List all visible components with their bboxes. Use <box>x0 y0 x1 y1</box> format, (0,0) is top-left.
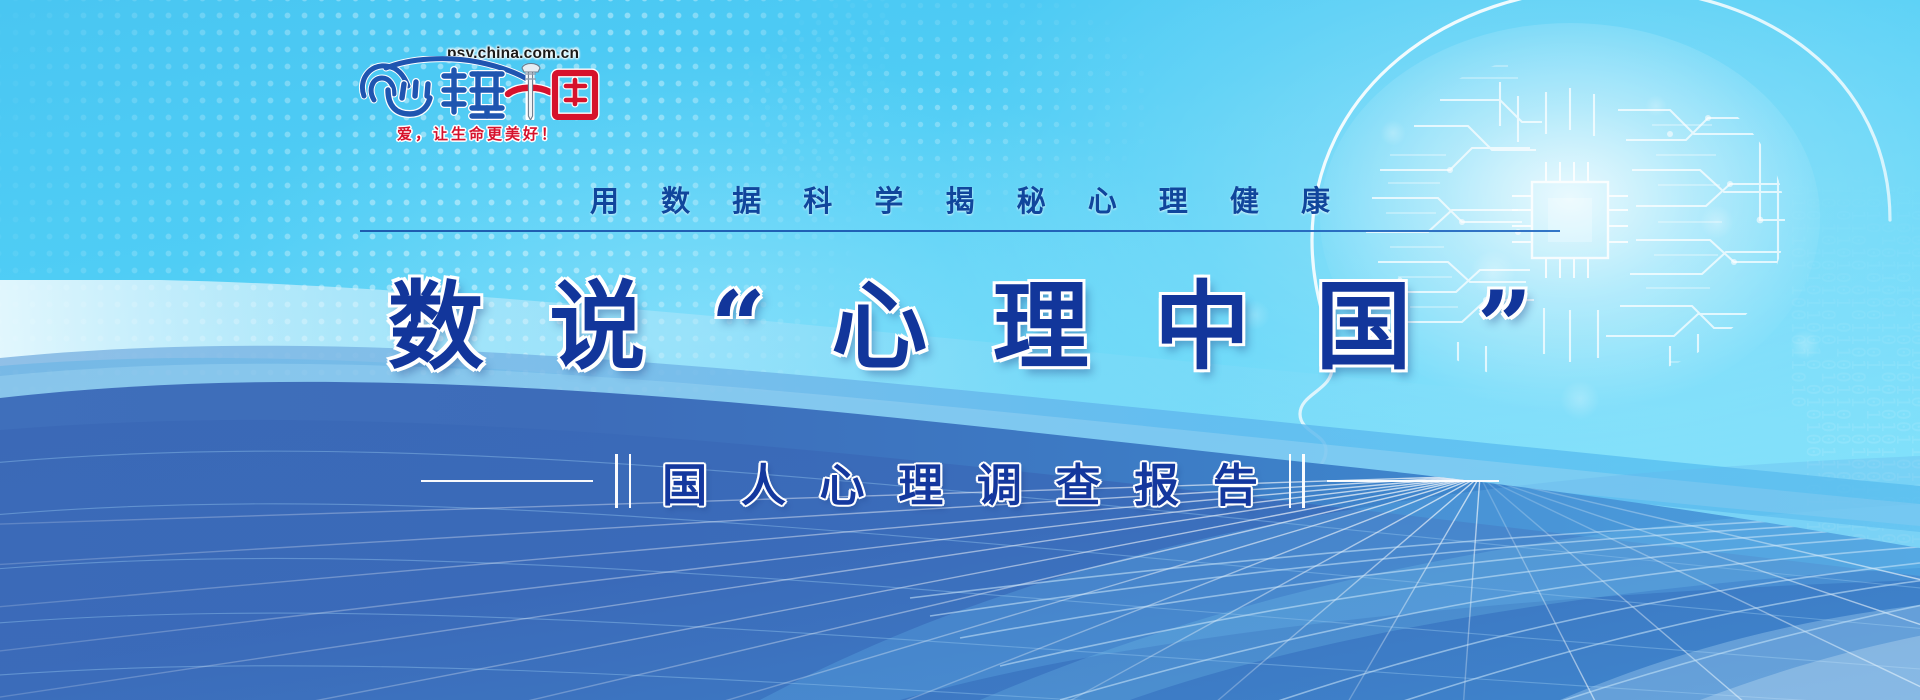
kicker-headline: 用 数 据 科 学 揭 秘 心 理 健 康 <box>0 178 1920 220</box>
halftone-dot-pattern-secondary <box>640 0 1160 280</box>
logo-wordmark <box>352 56 600 120</box>
bokeh-dot <box>1645 95 1667 117</box>
divider-bars-left <box>615 454 631 508</box>
divider-bars-right <box>1289 454 1305 508</box>
page-subtitle: 国 人 心 理 调 查 报 告 <box>653 449 1267 514</box>
subtitle-strip: 国 人 心 理 调 查 报 告 <box>0 445 1920 517</box>
horizontal-rule-top <box>360 230 1560 232</box>
psychology-china-banner: 0101001101 1011010010 0110101101 1001011… <box>0 0 1920 700</box>
divider-line-left <box>421 480 593 482</box>
logo-tagline: 爱，让生命更美好！ <box>360 123 596 144</box>
divider-line-right <box>1327 480 1499 482</box>
bokeh-dot <box>1380 120 1406 146</box>
page-title: 数 说 “ 心 理 中 国 ” <box>0 268 1920 385</box>
site-logo[interactable]: psy.china.com.cn <box>352 44 600 156</box>
bokeh-dot <box>1560 380 1600 420</box>
